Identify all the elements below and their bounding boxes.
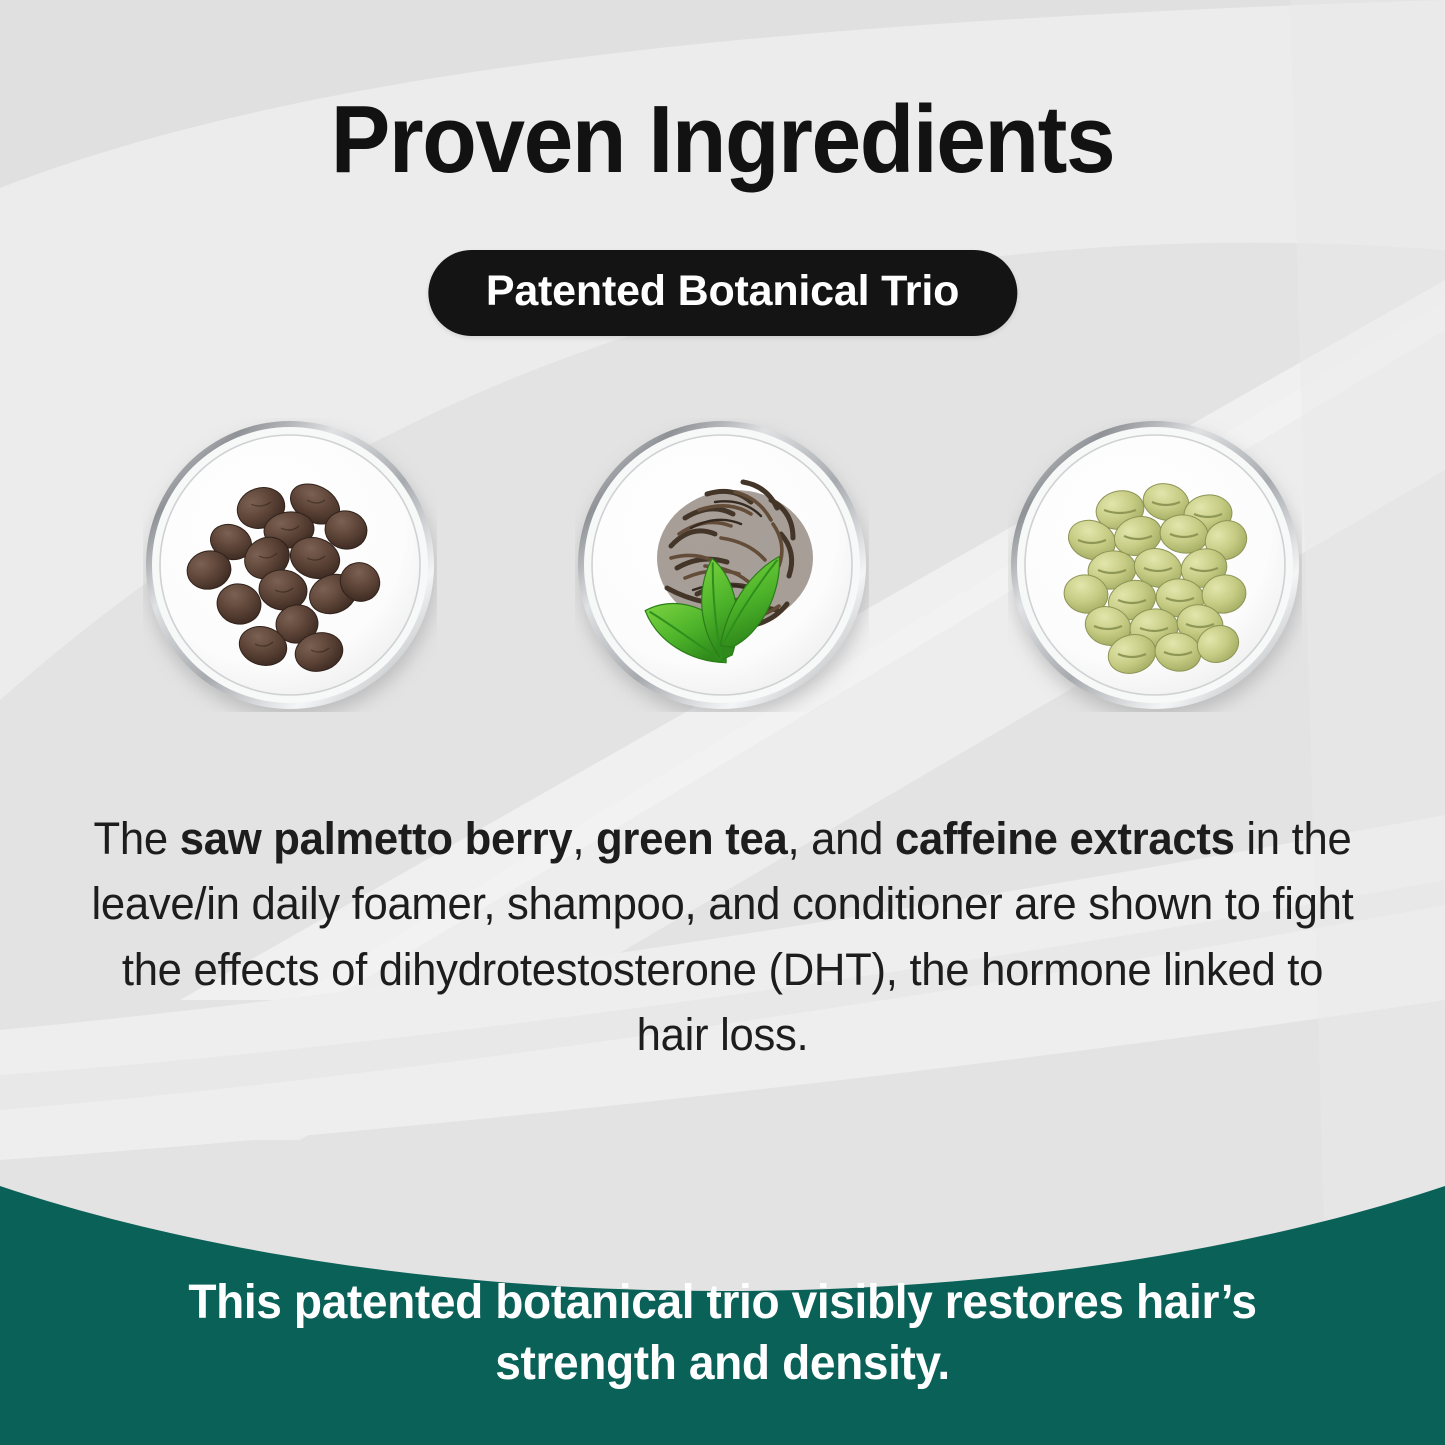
body-seg-5: caffeine extracts: [895, 813, 1235, 864]
body-seg-2: ,: [572, 813, 596, 864]
body-seg-1: saw palmetto berry: [180, 813, 573, 864]
body-seg-3: green tea: [596, 813, 787, 864]
ingredient-description: The saw palmetto berry, green tea, and c…: [92, 806, 1354, 1067]
ingredient-dish-green-tea: [575, 418, 869, 712]
infographic-canvas: Proven Ingredients Patented Botanical Tr…: [0, 0, 1445, 1445]
ingredient-dish-row: [0, 418, 1445, 718]
body-seg-4: , and: [787, 813, 894, 864]
ingredient-dish-saw-palmetto: [143, 418, 437, 712]
page-title: Proven Ingredients: [51, 92, 1395, 188]
status-badge: Patented Botanical Trio: [428, 250, 1017, 336]
body-seg-0: The: [94, 813, 180, 864]
footer-banner-text: This patented botanical trio visibly res…: [115, 1272, 1329, 1395]
ingredient-dish-green-coffee: [1008, 418, 1302, 712]
